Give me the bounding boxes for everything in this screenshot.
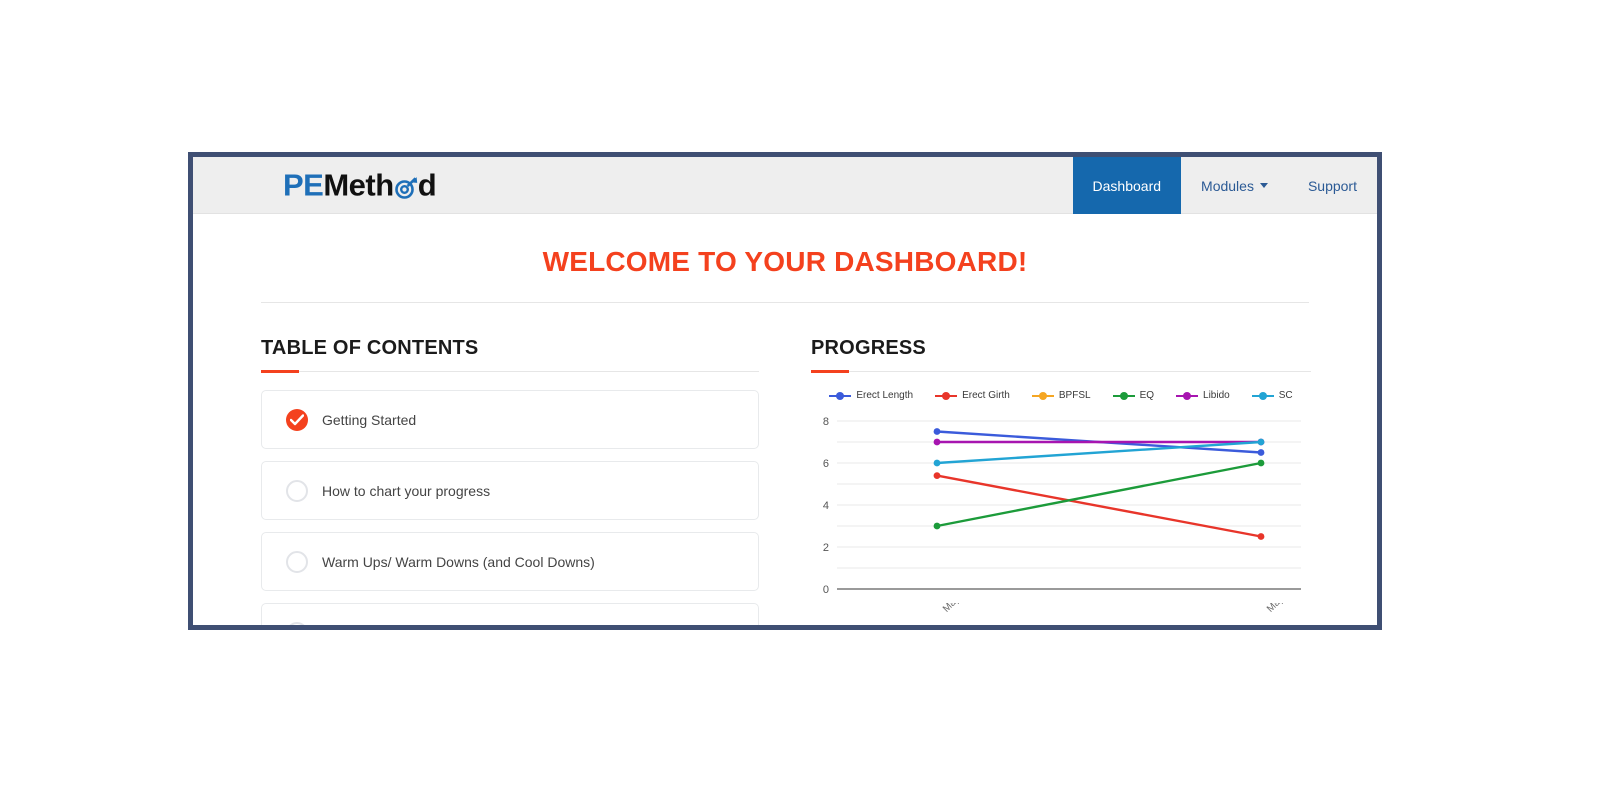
legend-swatch-icon — [935, 395, 957, 397]
legend-swatch-icon — [1113, 395, 1135, 397]
nav-item-modules-label: Modules — [1201, 178, 1254, 194]
legend-item[interactable]: EQ — [1113, 390, 1154, 401]
brand-pe-text: PE — [283, 170, 323, 201]
legend-item[interactable]: SC — [1252, 390, 1293, 401]
nav-item-support[interactable]: Support — [1288, 157, 1377, 214]
chart-data-point[interactable] — [934, 523, 941, 530]
chart-data-point[interactable] — [934, 428, 941, 435]
content-columns: TABLE OF CONTENTS Getting Started How to… — [193, 337, 1377, 630]
circle-outline-icon — [286, 622, 308, 631]
chart-data-point[interactable] — [1258, 533, 1265, 540]
progress-chart: Erect LengthErect GirthBPFSLEQLibidoSC 0… — [811, 390, 1311, 630]
chart-series-line — [937, 442, 1261, 463]
legend-item[interactable]: Erect Length — [829, 390, 913, 401]
chart-data-point[interactable] — [1258, 460, 1265, 467]
legend-item-label: SC — [1279, 390, 1293, 401]
chart-y-tick-label: 8 — [823, 416, 829, 428]
brand-meth-text: Meth — [323, 170, 393, 201]
progress-heading: PROGRESS — [811, 337, 1311, 360]
chart-y-tick-label: 0 — [823, 584, 829, 596]
legend-item-label: Erect Girth — [962, 390, 1010, 401]
chart-data-point[interactable] — [1258, 439, 1265, 446]
check-circle-icon — [286, 409, 308, 431]
legend-swatch-icon — [1032, 395, 1054, 397]
legend-item-label: BPFSL — [1059, 390, 1091, 401]
list-item-label: Warm Ups/ Warm Downs (and Cool Downs) — [322, 554, 595, 570]
circle-outline-icon — [286, 551, 308, 573]
chart-legend: Erect LengthErect GirthBPFSLEQLibidoSC — [811, 390, 1311, 401]
nav-item-dashboard-label: Dashboard — [1093, 178, 1162, 194]
brand-logo[interactable]: PEMethd — [283, 170, 436, 201]
brand-d-text: d — [418, 170, 436, 201]
progress-heading-rule — [811, 371, 1311, 372]
progress-panel: PROGRESS Erect LengthErect GirthBPFSLEQL… — [811, 337, 1311, 630]
list-item[interactable]: How to chart your progress — [261, 461, 759, 520]
chart-y-tick-label: 2 — [823, 542, 829, 554]
chevron-down-icon — [1260, 183, 1268, 188]
chart-series-line — [937, 463, 1261, 526]
legend-swatch-icon — [1176, 395, 1198, 397]
legend-item[interactable]: BPFSL — [1032, 390, 1091, 401]
toc-heading-rule — [261, 371, 759, 372]
nav-links: Dashboard Modules Support — [1073, 157, 1377, 214]
toc-list: Getting Started How to chart your progre… — [261, 390, 759, 630]
legend-item-label: Erect Length — [856, 390, 913, 401]
page-body: WELCOME TO YOUR DASHBOARD! TABLE OF CONT… — [193, 214, 1377, 628]
chart-x-tick-label: May -'28 — [1265, 603, 1300, 615]
app-window: PEMethd Dashboard Modules Support WELCOM… — [188, 152, 1382, 630]
legend-item[interactable]: Libido — [1176, 390, 1230, 401]
chart-series-line — [937, 476, 1261, 537]
nav-item-support-label: Support — [1308, 178, 1357, 194]
chart-svg: 02468 — [811, 413, 1311, 603]
target-arrow-icon — [394, 175, 418, 199]
chart-y-tick-label: 4 — [823, 500, 829, 512]
table-of-contents-panel: TABLE OF CONTENTS Getting Started How to… — [261, 337, 759, 630]
list-item[interactable]: Getting Started — [261, 390, 759, 449]
list-item-label: How to chart your progress — [322, 483, 490, 499]
list-item-label: Getting Started — [322, 412, 416, 428]
chart-plot-area: 02468 — [811, 413, 1311, 603]
list-item[interactable] — [261, 603, 759, 630]
toc-heading: TABLE OF CONTENTS — [261, 337, 759, 360]
chart-data-point[interactable] — [934, 439, 941, 446]
chart-x-axis-labels: May -'28May -'28 — [811, 603, 1311, 630]
nav-item-dashboard[interactable]: Dashboard — [1073, 157, 1182, 214]
legend-item-label: Libido — [1203, 390, 1230, 401]
chart-data-point[interactable] — [934, 460, 941, 467]
chart-y-tick-label: 6 — [823, 458, 829, 470]
nav-item-modules[interactable]: Modules — [1181, 157, 1288, 214]
top-navbar: PEMethd Dashboard Modules Support — [193, 157, 1377, 214]
circle-outline-icon — [286, 480, 308, 502]
list-item[interactable]: Warm Ups/ Warm Downs (and Cool Downs) — [261, 532, 759, 591]
legend-item-label: EQ — [1140, 390, 1154, 401]
legend-swatch-icon — [1252, 395, 1274, 397]
header-divider — [261, 302, 1309, 303]
legend-swatch-icon — [829, 395, 851, 397]
page-title: WELCOME TO YOUR DASHBOARD! — [193, 214, 1377, 278]
chart-data-point[interactable] — [1258, 449, 1265, 456]
chart-data-point[interactable] — [934, 472, 941, 479]
chart-x-tick-label: May -'28 — [941, 603, 976, 615]
legend-item[interactable]: Erect Girth — [935, 390, 1010, 401]
